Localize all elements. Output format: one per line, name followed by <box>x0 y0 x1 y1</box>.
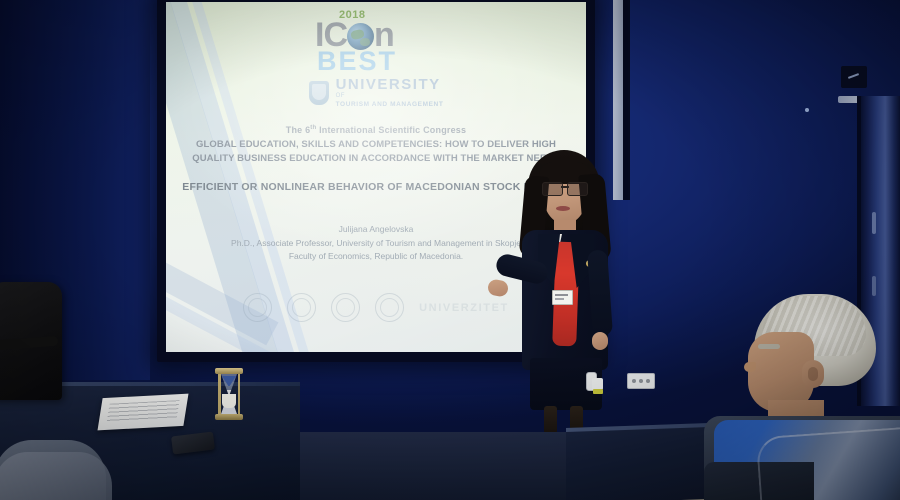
photo-vignette <box>0 0 900 500</box>
conference-room-photo: 2018 ICn BEST UNIVERSITY OF TOURISM AND … <box>0 0 900 500</box>
